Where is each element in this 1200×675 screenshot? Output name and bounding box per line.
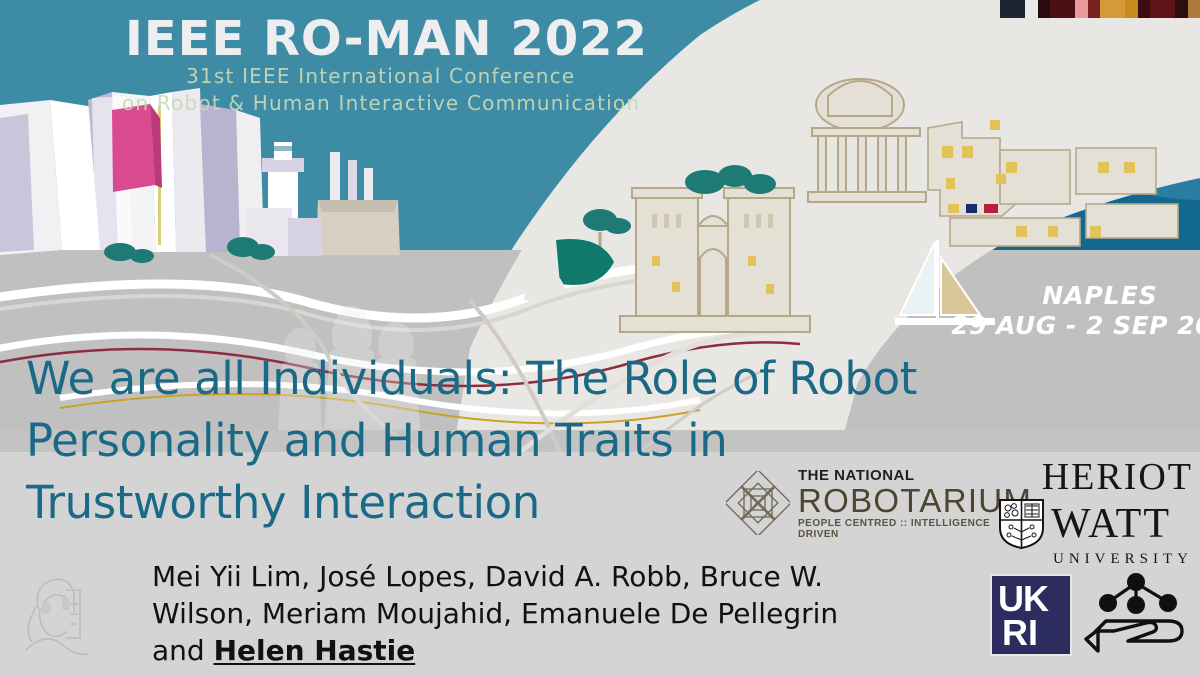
heriot-watt-crest-icon — [998, 498, 1045, 550]
video-strip-segment — [1088, 0, 1101, 18]
webcam-video-strip[interactable] — [1000, 0, 1200, 18]
presentation-slide: IEEE RO-MAN 2022 31st IEEE International… — [0, 0, 1200, 675]
logo-national-robotarium: THE NATIONAL ROBOTARIUM PEOPLE CENTRED :… — [726, 470, 998, 536]
author-list: Mei Yii Lim, José Lopes, David A. Robb, … — [152, 558, 892, 669]
video-strip-segment — [1138, 0, 1151, 18]
banner-subtitle-line2: on Robot & Human Interactive Communicati… — [122, 91, 640, 115]
video-strip-segment — [1000, 0, 1025, 18]
title-line-1: We are all Individuals: The Role of Robo… — [26, 348, 1036, 410]
banner-dates: 29 AUG - 2 SEP 2022 — [951, 311, 1200, 340]
video-strip-segment — [1025, 0, 1038, 18]
video-strip-segment — [1050, 0, 1075, 18]
person-with-headset-watermark — [18, 568, 92, 664]
heriot-watt-line-1: HERIOT — [998, 458, 1193, 496]
video-strip-segment — [1188, 0, 1200, 18]
banner-location: NAPLES — [1042, 281, 1158, 310]
video-strip-segment — [1038, 0, 1051, 18]
ukri-line-2: RI — [1002, 612, 1038, 654]
author-line-1: Mei Yii Lim, José Lopes, David A. Robb, … — [152, 558, 892, 595]
video-strip-segment — [1175, 0, 1188, 18]
banner-conference-title: IEEE RO-MAN 2022 — [125, 11, 648, 67]
heriot-watt-line-2: WATT — [1051, 503, 1171, 545]
video-strip-segment — [1150, 0, 1175, 18]
ukri-wordmark: UK RI — [992, 576, 1070, 654]
title-line-2: Personality and Human Traits in — [26, 410, 1036, 472]
robotarium-star-mark — [726, 471, 790, 535]
video-strip-segment — [1125, 0, 1138, 18]
logo-heriot-watt-university: HERIOT WATT UNIVERSITY — [998, 458, 1193, 558]
author-line-2: Wilson, Meriam Moujahid, Emanuele De Pel… — [152, 595, 892, 632]
author-line-3: and Helen Hastie — [152, 632, 892, 669]
logo-ukri: UK RI — [992, 565, 1192, 665]
video-strip-segment — [1100, 0, 1125, 18]
hand-network-icon — [1080, 571, 1188, 659]
author-conjunction: and — [152, 634, 214, 667]
presenting-author: Helen Hastie — [214, 634, 416, 667]
video-strip-segment — [1075, 0, 1088, 18]
banner-subtitle-line1: 31st IEEE International Conference — [186, 64, 575, 88]
